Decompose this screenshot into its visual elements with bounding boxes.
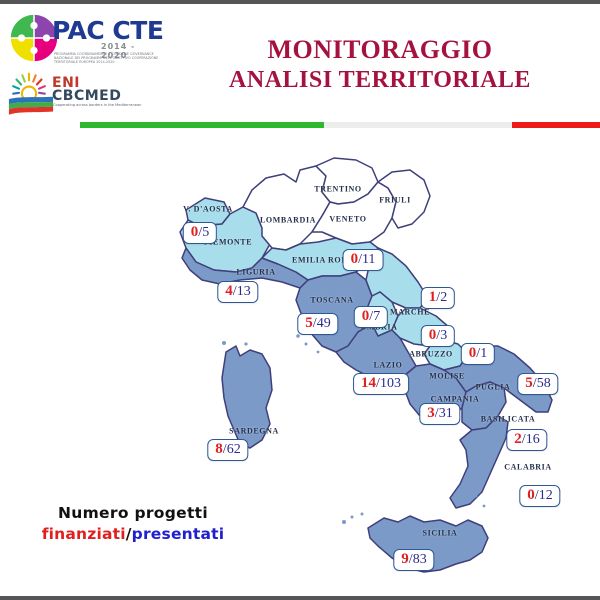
legend-title: Numero progetti [28, 504, 238, 522]
financed-count: 8 [215, 441, 223, 457]
financed-count: 0 [469, 345, 477, 361]
legend: Numero progetti finanziati/presentati [28, 504, 238, 543]
submitted-count: 11 [362, 252, 375, 267]
submitted-count: 2 [440, 290, 447, 305]
mediterranean-waves-icon [8, 96, 54, 116]
badge-molise[interactable]: 0/1 [461, 343, 495, 365]
region-sardegna[interactable] [222, 346, 272, 448]
eni-tagline: Cooperating across borders in the Medite… [53, 103, 143, 108]
financed-count: 3 [427, 405, 435, 421]
financed-count: 0 [527, 487, 535, 503]
financed-count: 2 [514, 431, 522, 447]
badge-marche[interactable]: 1/2 [421, 287, 455, 309]
paccte-logo: PAC CTE 2014 - 2020 PROGRAMMA COORDINAME… [8, 12, 163, 68]
badge-toscana[interactable]: 5/49 [297, 313, 338, 335]
slide-root: PAC CTE 2014 - 2020 PROGRAMMA COORDINAME… [0, 0, 600, 600]
submitted-count: 103 [380, 376, 401, 391]
badge-liguria[interactable]: 4/13 [217, 281, 258, 303]
title-block: MONITORAGGIO ANALISI TERRITORIALE [170, 34, 590, 96]
submitted-count: 62 [227, 442, 241, 457]
badge-piemonte[interactable]: 0/5 [183, 222, 217, 244]
badge-lazio[interactable]: 14/103 [353, 373, 409, 395]
submitted-count: 13 [237, 284, 251, 299]
page-subtitle: ANALISI TERRITORIALE [170, 65, 590, 96]
financed-count: 4 [225, 283, 233, 299]
flag-white-segment [324, 122, 511, 128]
cbcmed-wordmark: CBCMED [52, 88, 121, 104]
paccte-wordmark: PAC CTE [52, 16, 163, 45]
submitted-count: 3 [440, 328, 447, 343]
slide-header: PAC CTE 2014 - 2020 PROGRAMMA COORDINAME… [0, 4, 600, 122]
badge-calabria[interactable]: 0/12 [519, 485, 560, 507]
financed-count: 5 [525, 375, 533, 391]
page-title: MONITORAGGIO [170, 34, 590, 65]
flag-green-segment [80, 122, 324, 128]
flag-red-segment [512, 122, 600, 128]
italy-flag-divider [80, 122, 600, 128]
badge-puglia[interactable]: 5/58 [517, 373, 558, 395]
badge-abruzzo[interactable]: 0/3 [421, 325, 455, 347]
legend-financed-word: finanziati [42, 525, 126, 543]
submitted-count: 83 [413, 552, 427, 567]
badge-basilicata[interactable]: 2/16 [506, 429, 547, 451]
submitted-count: 7 [373, 309, 380, 324]
financed-count: 0 [429, 327, 437, 343]
submitted-count: 49 [317, 316, 331, 331]
submitted-count: 12 [539, 488, 553, 503]
submitted-count: 1 [480, 346, 487, 361]
financed-count: 5 [305, 315, 313, 331]
financed-count: 1 [429, 289, 437, 305]
financed-count: 9 [401, 551, 409, 567]
badge-campania[interactable]: 3/31 [419, 403, 460, 425]
financed-count: 0 [351, 251, 359, 267]
paccte-subtitle: PROGRAMMA COORDINAMENTO E COESIONE GOVER… [54, 52, 162, 65]
badge-sicilia[interactable]: 9/83 [393, 549, 434, 571]
financed-count: 0 [362, 308, 370, 324]
legend-submitted-word: presentati [132, 525, 225, 543]
badge-umbria[interactable]: 0/7 [354, 306, 388, 328]
financed-count: 14 [361, 375, 376, 391]
financed-count: 0 [191, 224, 199, 240]
submitted-count: 58 [537, 376, 551, 391]
legend-values: finanziati/presentati [28, 525, 238, 543]
region-calabria[interactable] [450, 416, 508, 508]
submitted-count: 16 [526, 432, 540, 447]
eni-cbcmed-logo: ENI CBCMED Cooperating across borders in… [8, 72, 168, 118]
badge-sardegna[interactable]: 8/62 [207, 439, 248, 461]
submitted-count: 5 [202, 225, 209, 240]
badge-emilia[interactable]: 0/11 [343, 249, 384, 271]
submitted-count: 31 [439, 406, 453, 421]
